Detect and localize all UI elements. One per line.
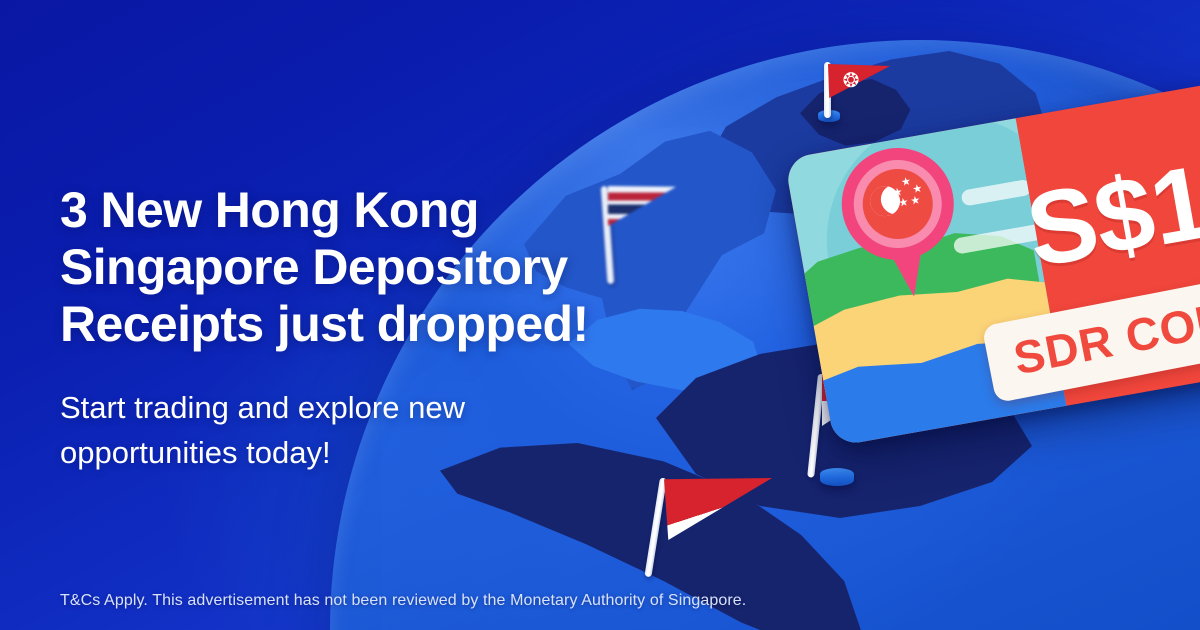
- headline-line-2: Singapore Depository: [60, 239, 680, 296]
- coupon-amount: S$10: [1018, 133, 1200, 292]
- headline-line-1: 3 New Hong Kong: [60, 182, 680, 239]
- five-stars-icon: ★ ★ ★ ★ ★: [890, 174, 930, 219]
- subheadline-line-1: Start trading and explore new: [60, 385, 680, 430]
- promo-banner: ❂ ★ ★ ★ ★ ★: [0, 0, 1200, 630]
- subheadline-line-2: opportunities today!: [60, 430, 680, 475]
- headline-line-3: Receipts just dropped!: [60, 296, 680, 353]
- flag-pole: [644, 477, 667, 577]
- hong-kong-flag-icon: ❂: [806, 52, 896, 118]
- flag-base: [820, 468, 854, 486]
- disclaimer-text: T&Cs Apply. This advertisement has not b…: [60, 592, 746, 610]
- flag-cloth: [664, 478, 772, 540]
- headline: 3 New Hong Kong Singapore Depository Rec…: [60, 182, 680, 353]
- indonesia-flag-icon: [644, 472, 784, 582]
- bauhinia-flower-icon: ❂: [840, 71, 862, 93]
- subheadline: Start trading and explore new opportunit…: [60, 385, 680, 475]
- copy-block: 3 New Hong Kong Singapore Depository Rec…: [60, 182, 680, 475]
